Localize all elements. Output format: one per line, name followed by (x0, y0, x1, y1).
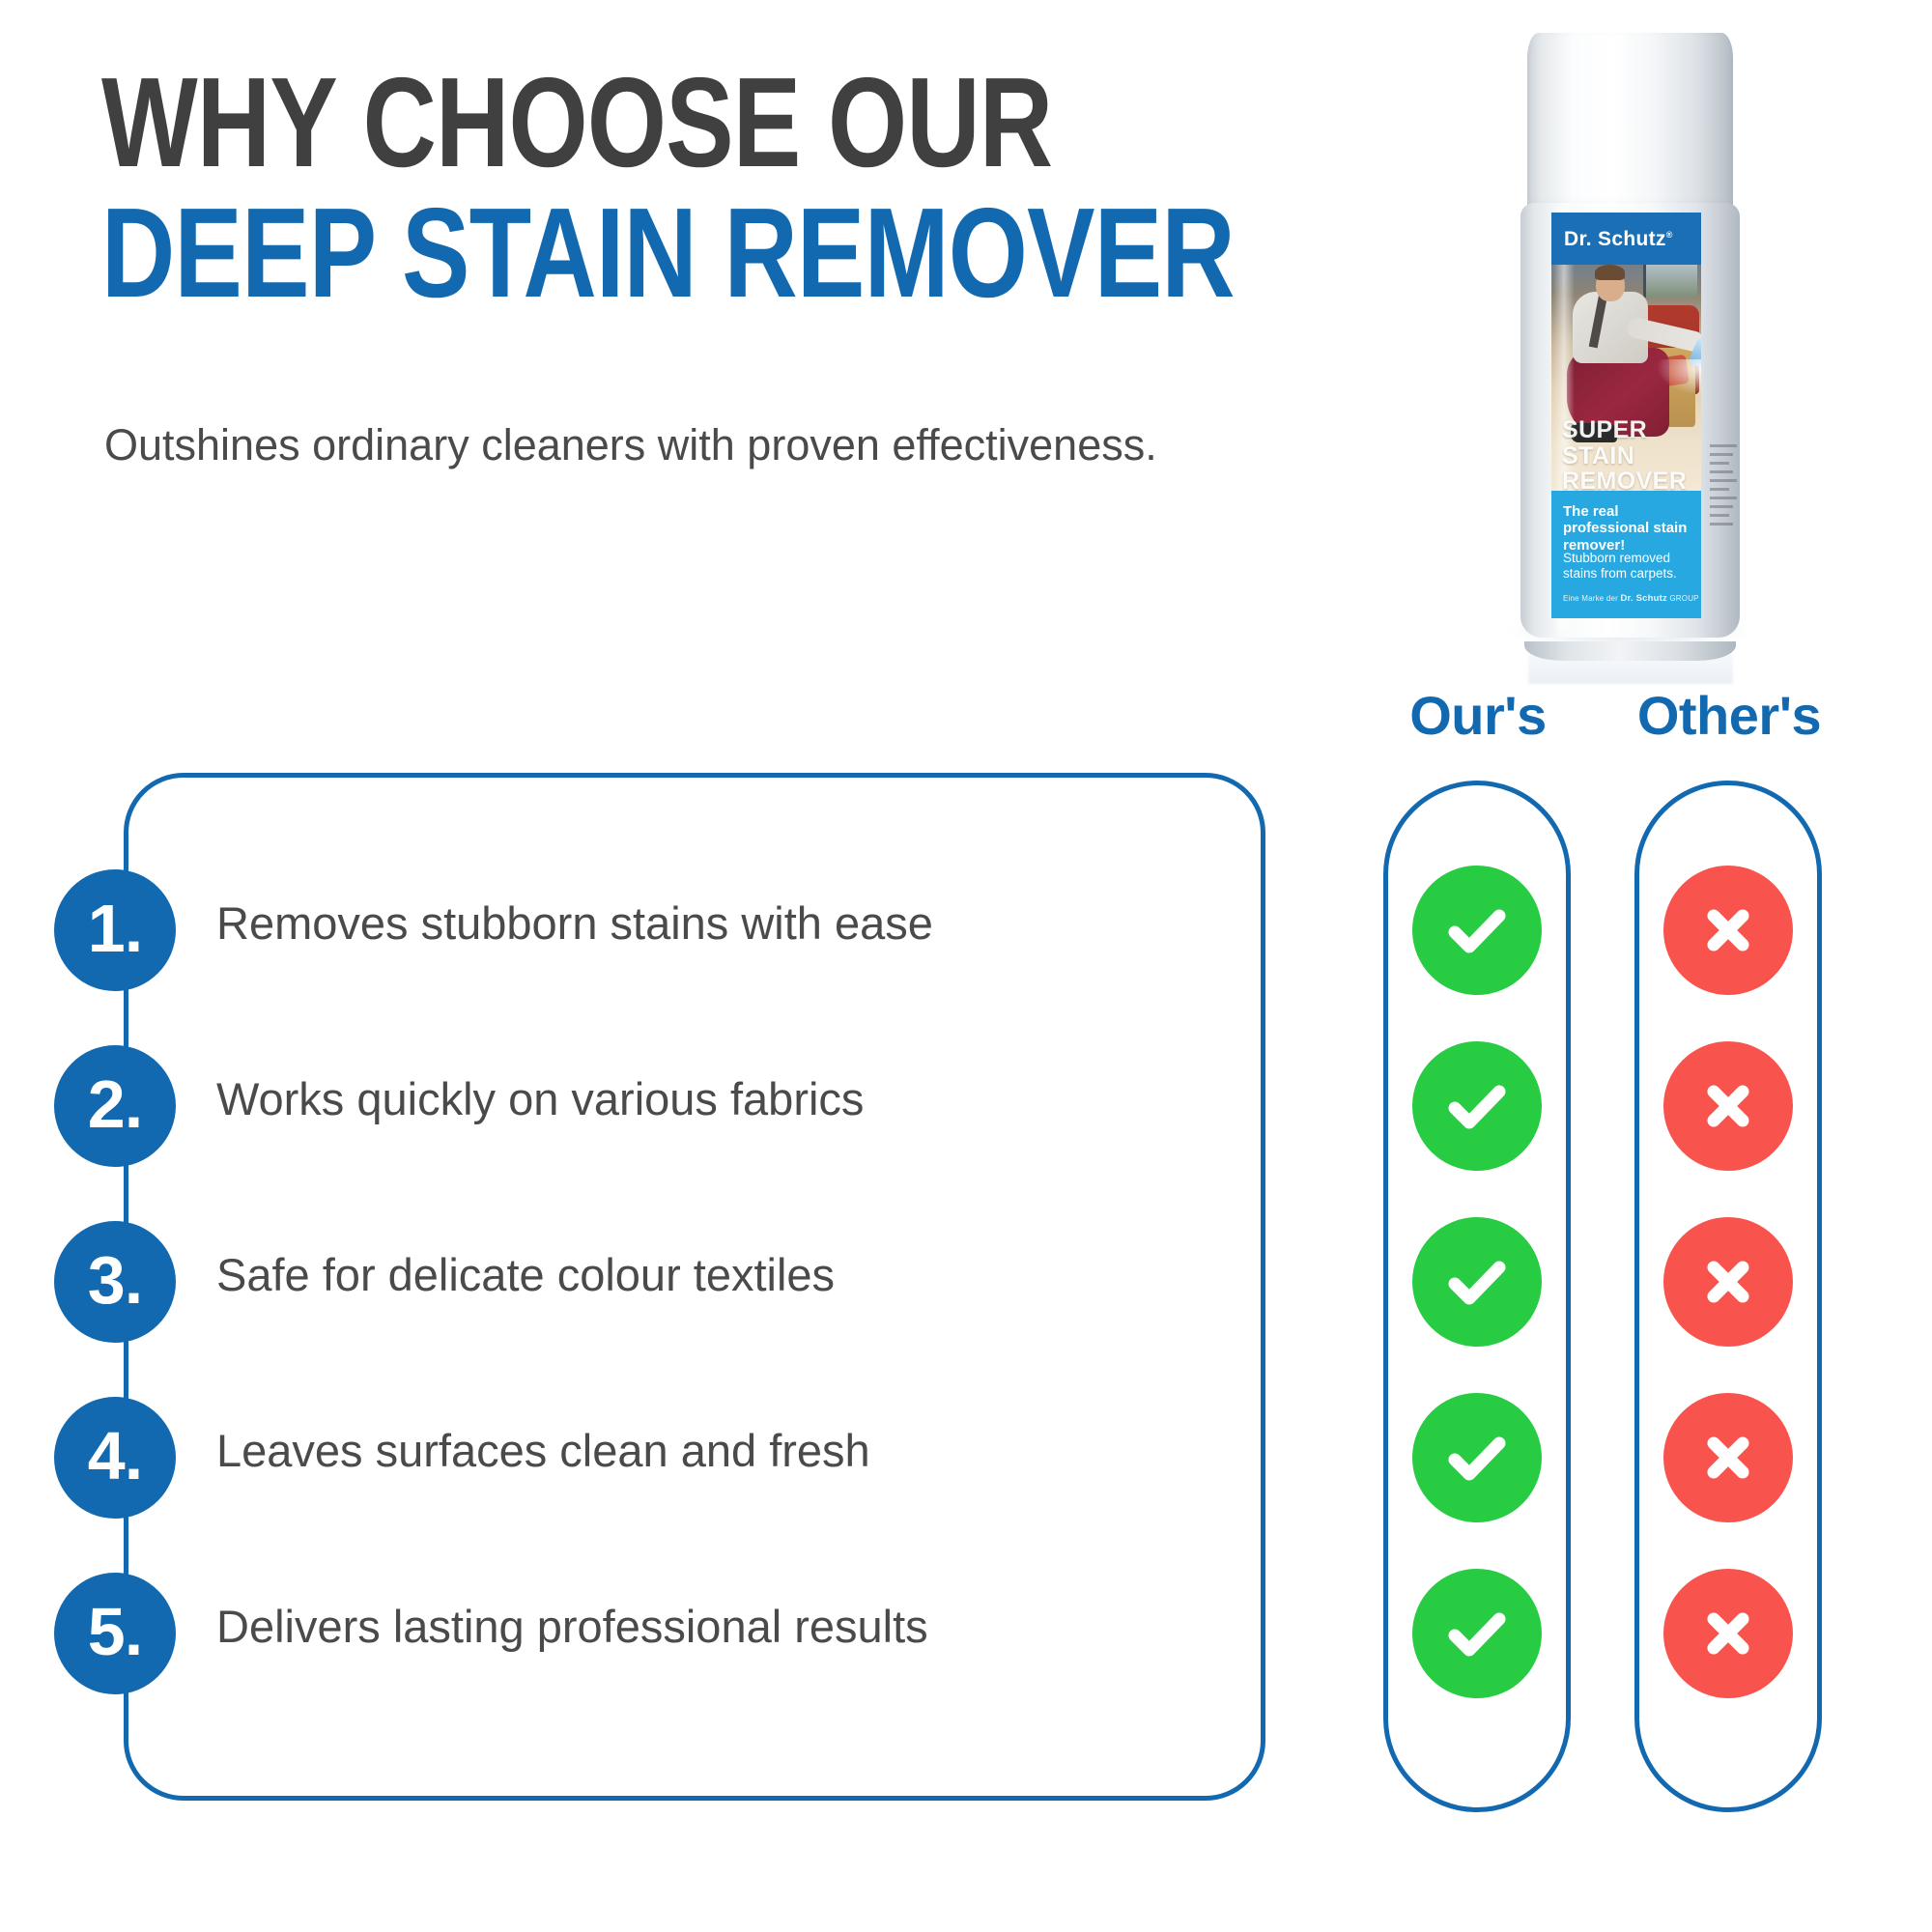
others-cell (1634, 1385, 1822, 1561)
ours-cell (1383, 858, 1571, 1034)
ours-cell (1383, 1385, 1571, 1561)
ours-cell (1383, 1034, 1571, 1209)
infographic-canvas: WHY CHOOSE OUR DEEP STAIN REMOVER Outshi… (0, 0, 1932, 1932)
others-marks (1634, 858, 1822, 1737)
headline-line-2: DEEP STAIN REMOVER (101, 190, 1137, 317)
check-icon (1412, 1569, 1542, 1698)
others-cell (1634, 858, 1822, 1034)
ours-cell (1383, 1209, 1571, 1385)
subtitle: Outshines ordinary cleaners with proven … (104, 417, 1157, 473)
label-product-title: SUPER STAIN REMOVER (1562, 417, 1701, 495)
benefit-number-badge: 4. (54, 1397, 176, 1519)
bottle-label: Dr. Schutz® SUPER STAIN REMOVER The real… (1551, 213, 1701, 618)
list-item: 3. Safe for delicate colour textiles (54, 1209, 1291, 1385)
list-item: 2. Works quickly on various fabrics (54, 1034, 1291, 1209)
label-blue-panel: The real professional stain remover! Stu… (1551, 491, 1701, 618)
brand-logo: Dr. Schutz® (1564, 228, 1673, 251)
label-footer: Eine Marke der Dr. Schutz GROUP (1563, 593, 1699, 604)
column-header-ours: Our's (1352, 684, 1604, 747)
others-cell (1634, 1034, 1822, 1209)
check-icon (1412, 866, 1542, 995)
list-item: 5. Delivers lasting professional results (54, 1561, 1291, 1737)
cross-icon (1663, 1569, 1793, 1698)
check-icon (1412, 1217, 1542, 1347)
bottle-cap (1527, 33, 1733, 211)
ours-marks (1383, 858, 1571, 1737)
check-icon (1412, 1393, 1542, 1522)
bottle-body: Dr. Schutz® SUPER STAIN REMOVER The real… (1520, 203, 1740, 638)
headline-line-1: WHY CHOOSE OUR (101, 60, 1137, 186)
list-item: 1. Removes stubborn stains with ease (54, 858, 1291, 1034)
benefits-list: 1. Removes stubborn stains with ease 2. … (54, 858, 1291, 1737)
benefit-text: Works quickly on various fabrics (216, 1072, 864, 1126)
benefit-text: Safe for delicate colour textiles (216, 1248, 835, 1302)
label-logo-bar: Dr. Schutz® (1551, 213, 1701, 265)
product-bottle: Dr. Schutz® SUPER STAIN REMOVER The real… (1495, 29, 1766, 667)
bottle-fine-print (1710, 444, 1737, 531)
cross-icon (1663, 1041, 1793, 1171)
benefit-number-badge: 5. (54, 1573, 176, 1694)
headline-block: WHY CHOOSE OUR DEEP STAIN REMOVER (101, 60, 1396, 316)
benefit-text: Leaves surfaces clean and fresh (216, 1424, 870, 1478)
label-title-line-2: REMOVER (1562, 469, 1701, 495)
cross-icon (1663, 1217, 1793, 1347)
benefit-text: Removes stubborn stains with ease (216, 896, 933, 951)
check-icon (1412, 1041, 1542, 1171)
others-cell (1634, 1561, 1822, 1737)
list-item: 4. Leaves surfaces clean and fresh (54, 1385, 1291, 1561)
others-cell (1634, 1209, 1822, 1385)
column-header-others: Other's (1604, 684, 1855, 747)
bottle-rim (1524, 641, 1736, 661)
label-claim: The real professional stain remover! (1563, 503, 1698, 554)
label-title-line-1: SUPER STAIN (1562, 417, 1701, 469)
label-description: Stubborn removed stains from carpets. (1563, 551, 1698, 582)
ours-cell (1383, 1561, 1571, 1737)
benefit-text: Delivers lasting professional results (216, 1600, 928, 1654)
cross-icon (1663, 866, 1793, 995)
benefit-number-badge: 1. (54, 869, 176, 991)
cross-icon (1663, 1393, 1793, 1522)
benefit-number-badge: 3. (54, 1221, 176, 1343)
benefit-number-badge: 2. (54, 1045, 176, 1167)
